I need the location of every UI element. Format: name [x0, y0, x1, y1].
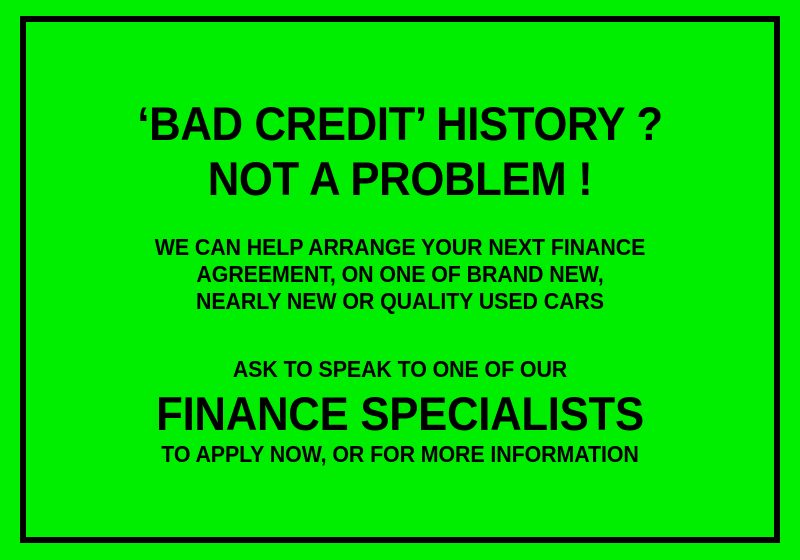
headline-block: ‘BAD CREDIT’ HISTORY ? NOT A PROBLEM !	[26, 96, 774, 206]
body-line-3: NEARLY NEW OR QUALITY USED CARS	[52, 288, 748, 315]
body-line-2: AGREEMENT, ON ONE OF BRAND NEW,	[52, 261, 748, 288]
body-line-1: WE CAN HELP ARRANGE YOUR NEXT FINANCE	[52, 234, 748, 261]
body-paragraph: WE CAN HELP ARRANGE YOUR NEXT FINANCE AG…	[26, 234, 774, 315]
apply-line: TO APPLY NOW, OR FOR MORE INFORMATION	[52, 441, 748, 468]
ask-block: ASK TO SPEAK TO ONE OF OUR	[26, 356, 774, 383]
ask-line: ASK TO SPEAK TO ONE OF OUR	[52, 356, 748, 383]
headline-line-2: NOT A PROBLEM !	[52, 151, 748, 206]
poster-content: ‘BAD CREDIT’ HISTORY ? NOT A PROBLEM ! W…	[26, 22, 774, 537]
headline-line-1: ‘BAD CREDIT’ HISTORY ?	[52, 96, 748, 151]
apply-block: TO APPLY NOW, OR FOR MORE INFORMATION	[26, 441, 774, 468]
advertisement-poster: ‘BAD CREDIT’ HISTORY ? NOT A PROBLEM ! W…	[0, 0, 800, 560]
finance-specialists-line: FINANCE SPECIALISTS	[52, 386, 748, 442]
specialists-block: FINANCE SPECIALISTS	[26, 386, 774, 442]
